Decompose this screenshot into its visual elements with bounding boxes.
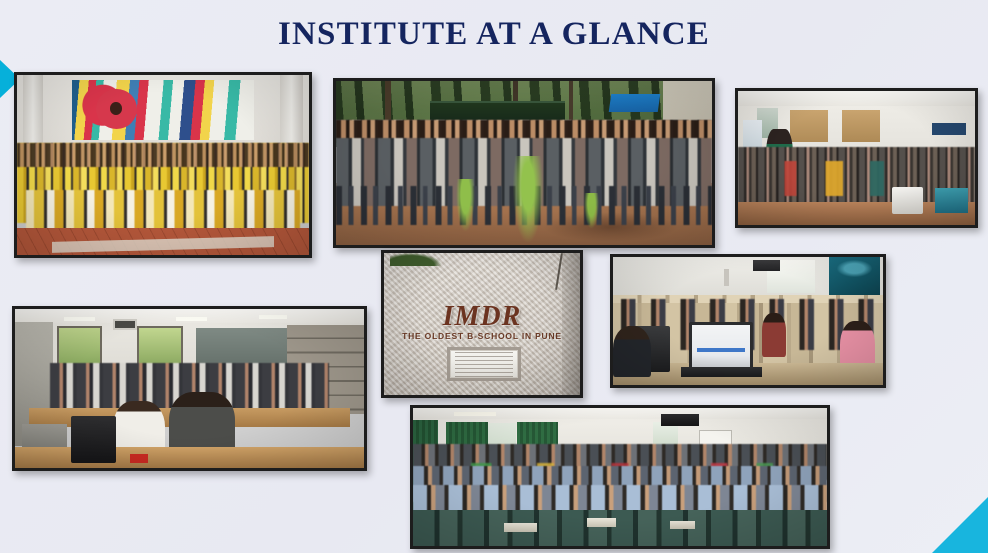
photo-library[interactable] <box>12 306 367 471</box>
library-window-right <box>137 326 182 366</box>
overhanging-foliage <box>390 253 441 266</box>
photo-classroom-seminar-content <box>738 91 975 225</box>
hanging-lamp <box>724 269 729 287</box>
wall-plaque-text-lines <box>455 352 514 376</box>
student-foreground <box>613 326 651 377</box>
foreground-counter <box>15 447 364 468</box>
laptop-on-desk <box>935 188 968 213</box>
library-window-left <box>57 326 102 366</box>
sapling-1 <box>456 179 475 231</box>
open-laptop-screen <box>689 322 754 371</box>
curtained-window-1 <box>790 110 828 142</box>
chair-writing-pad-2 <box>587 518 616 526</box>
photo-imdr-sign[interactable]: IMDR THE OLDEST B-SCHOOL IN PUNE <box>381 250 583 398</box>
photo-group-yellow[interactable] <box>14 72 312 258</box>
imdr-sign-name: IMDR <box>384 301 580 333</box>
wall-display-screen <box>932 123 965 135</box>
projector-unit <box>892 187 923 214</box>
photo-classroom-seminar[interactable] <box>735 88 978 228</box>
sapling-2 <box>513 156 543 241</box>
photo-auditorium-content <box>413 408 827 546</box>
photo-tree-plantation[interactable] <box>333 78 715 248</box>
wall-picture-frame <box>113 319 137 330</box>
chair-writing-pad-3 <box>670 521 695 529</box>
photo-tree-plantation-content <box>336 81 712 245</box>
crt-monitor <box>71 416 116 464</box>
red-stapler <box>130 454 147 464</box>
photo-computer-lab[interactable] <box>610 254 886 388</box>
blue-vehicle <box>609 94 660 112</box>
green-seating-chairs <box>413 510 827 546</box>
banner-graphic <box>837 260 872 278</box>
page-title: INSTITUTE AT A GLANCE <box>0 16 988 53</box>
seated-front-row <box>26 190 300 230</box>
tube-light-2 <box>176 317 207 321</box>
imdr-sign-tagline: THE OLDEST B-SCHOOL IN PUNE <box>384 331 580 341</box>
photo-computer-lab-content <box>613 257 883 385</box>
laptop-screen-content <box>697 348 746 352</box>
tube-light-1 <box>64 317 95 321</box>
student-crowd-faces <box>17 143 309 166</box>
curtained-window-2 <box>842 110 880 142</box>
laptop-keyboard-base <box>681 367 762 377</box>
students-heads-row <box>336 120 712 138</box>
slide-canvas: INSTITUTE AT A GLANCE <box>0 0 988 553</box>
mural-centre-dot <box>110 102 122 115</box>
hall-tube-light <box>454 412 495 416</box>
sapling-3 <box>584 193 599 229</box>
student-maroon-shirt <box>762 313 786 357</box>
photo-imdr-sign-content: IMDR THE OLDEST B-SCHOOL IN PUNE <box>384 253 580 395</box>
tube-light-3 <box>259 315 287 319</box>
chair-writing-pad-1 <box>504 523 537 533</box>
air-conditioner-unit <box>753 260 780 272</box>
photo-group-yellow-content <box>17 75 309 255</box>
photo-auditorium[interactable] <box>410 405 830 549</box>
classroom-ceiling <box>738 91 975 106</box>
wall-speaker-box <box>661 414 698 426</box>
bottom-right-triangle-accent-icon <box>932 497 988 553</box>
photo-library-content <box>15 309 364 468</box>
